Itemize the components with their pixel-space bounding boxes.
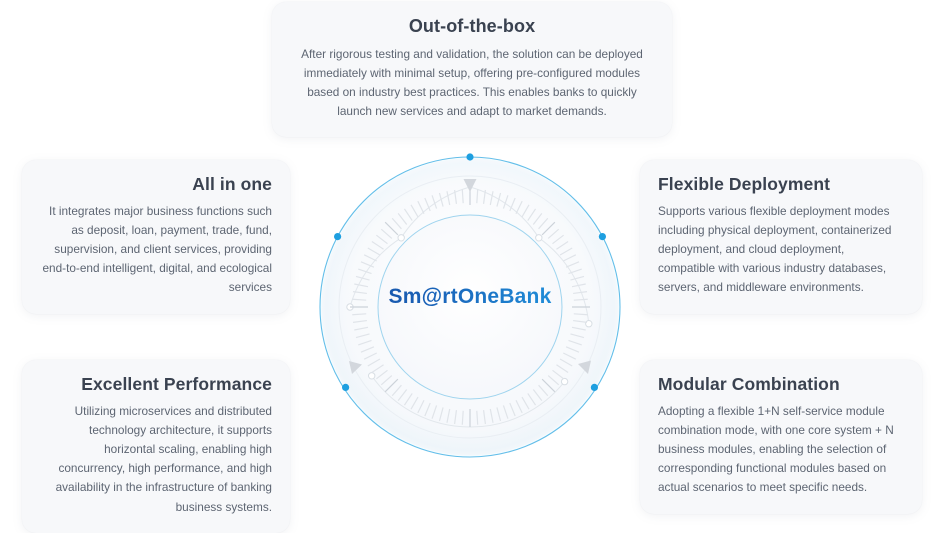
feature-card-modular-combination: Modular Combination Adopting a flexible … xyxy=(640,360,922,514)
endpoint-lower-right-icon xyxy=(561,378,567,384)
endpoint-upper-right-icon xyxy=(536,235,542,241)
feature-card-title: Modular Combination xyxy=(658,374,904,395)
feature-card-all-in-one: All in one It integrates major business … xyxy=(22,160,290,314)
feature-card-body: After rigorous testing and validation, t… xyxy=(294,45,650,121)
node-right-dot xyxy=(599,233,606,240)
endpoint-upper-left-icon xyxy=(398,235,404,241)
endpoint-lower-left-icon xyxy=(369,373,375,379)
node-bottom-right-dot xyxy=(591,384,598,391)
node-left-dot xyxy=(334,233,341,240)
node-bottom-left-dot xyxy=(342,384,349,391)
feature-card-out-of-the-box: Out-of-the-box After rigorous testing an… xyxy=(272,2,672,137)
endpoint-right-icon xyxy=(586,321,592,327)
feature-card-title: Flexible Deployment xyxy=(658,174,904,195)
central-ring-graphic: Sm@rtOneBank xyxy=(300,137,640,477)
feature-card-body: Supports various flexible deployment mod… xyxy=(658,202,904,298)
feature-card-title: Out-of-the-box xyxy=(294,16,650,38)
feature-overview-diagram: Out-of-the-box After rigorous testing an… xyxy=(0,0,941,500)
feature-card-body: It integrates major business functions s… xyxy=(40,202,272,298)
node-top-dot xyxy=(466,153,473,160)
feature-card-title: All in one xyxy=(40,174,272,195)
feature-card-excellent-performance: Excellent Performance Utilizing microser… xyxy=(22,360,290,533)
feature-card-flexible-deployment: Flexible Deployment Supports various fle… xyxy=(640,160,922,314)
brand-name-label: Sm@rtOneBank xyxy=(300,285,640,309)
feature-card-title: Excellent Performance xyxy=(40,374,272,395)
feature-card-body: Adopting a flexible 1+N self-service mod… xyxy=(658,402,904,498)
feature-card-body: Utilizing microservices and distributed … xyxy=(40,402,272,517)
